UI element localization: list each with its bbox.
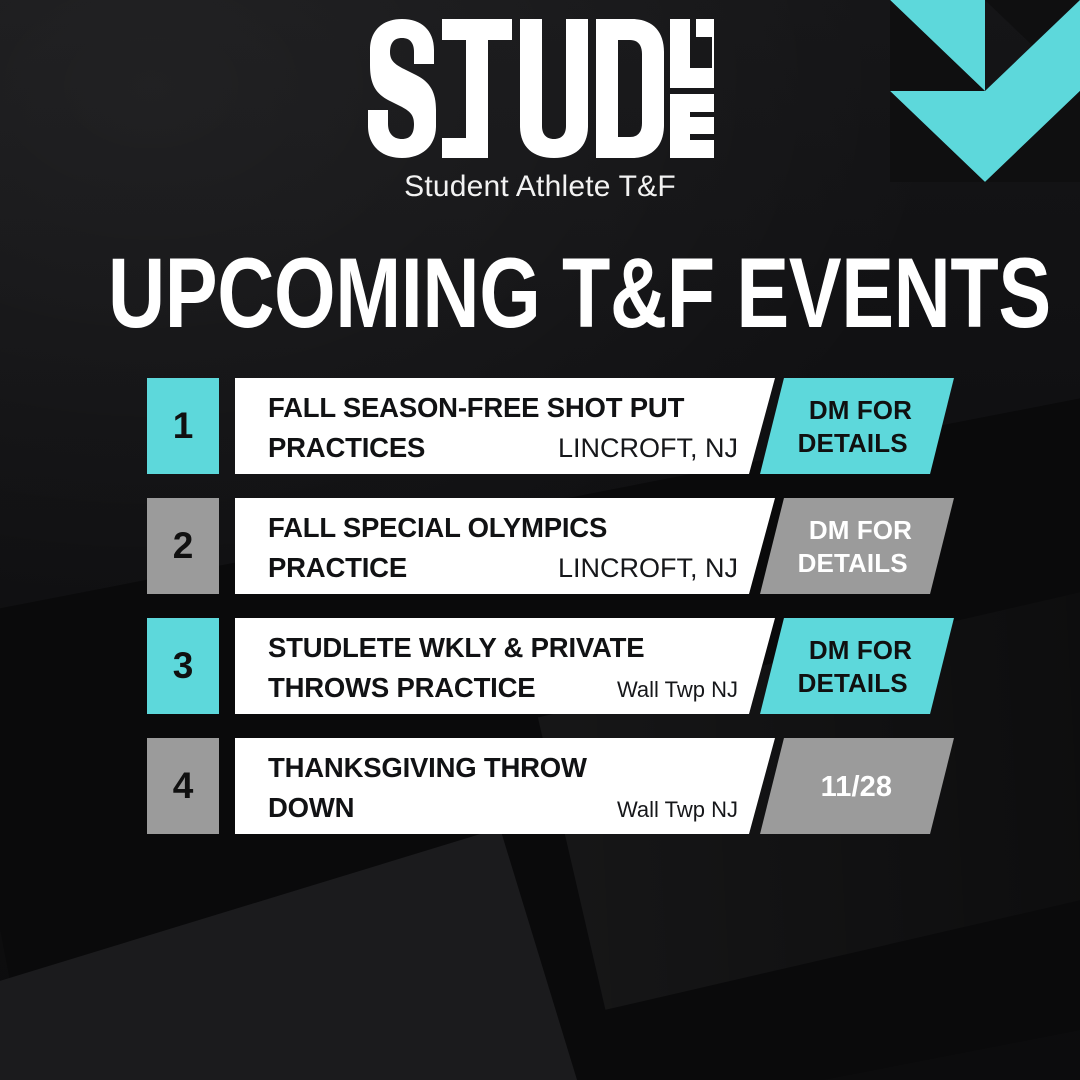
event-cta-badge[interactable]: DM FORDETAILS bbox=[760, 618, 954, 714]
event-title-line1: FALL SEASON-FREE SHOT PUT bbox=[268, 388, 775, 428]
event-number-badge: 4 bbox=[147, 738, 219, 834]
event-cta-line2: DETAILS bbox=[798, 427, 908, 460]
event-row[interactable]: 4THANKSGIVING THROWDOWNWall Twp NJ11/28 bbox=[147, 738, 947, 834]
event-title-line2: THROWS PRACTICE bbox=[268, 668, 535, 708]
brand-tagline: Student Athlete T&F bbox=[404, 170, 676, 204]
event-title-line2: PRACTICES bbox=[268, 428, 425, 468]
event-card: THANKSGIVING THROWDOWNWall Twp NJ bbox=[235, 738, 775, 834]
background-wedge-light bbox=[0, 828, 623, 1080]
event-cta-line1: DM FOR bbox=[809, 394, 912, 427]
brand-logo: Student Athlete T&F bbox=[0, 0, 1080, 204]
event-card: STUDLETE WKLY & PRIVATETHROWS PRACTICEWa… bbox=[235, 618, 775, 714]
event-card-second-line: PRACTICESLINCROFT, NJ bbox=[268, 428, 738, 468]
event-title-line1: STUDLETE WKLY & PRIVATE bbox=[268, 628, 775, 668]
event-row[interactable]: 3STUDLETE WKLY & PRIVATETHROWS PRACTICEW… bbox=[147, 618, 947, 714]
event-row[interactable]: 1FALL SEASON-FREE SHOT PUTPRACTICESLINCR… bbox=[147, 378, 947, 474]
event-cta-badge[interactable]: 11/28 bbox=[760, 738, 954, 834]
event-cta-line2: DETAILS bbox=[798, 667, 908, 700]
event-cta-line1: DM FOR bbox=[809, 514, 912, 547]
page-title: UPCOMING T&F EVENTS bbox=[108, 243, 972, 342]
event-number-badge: 3 bbox=[147, 618, 219, 714]
event-cta-line2: DETAILS bbox=[798, 547, 908, 580]
event-location: LINCROFT, NJ bbox=[558, 548, 738, 588]
event-cta-badge[interactable]: DM FORDETAILS bbox=[760, 378, 954, 474]
event-number-badge: 2 bbox=[147, 498, 219, 594]
event-card: FALL SEASON-FREE SHOT PUTPRACTICESLINCRO… bbox=[235, 378, 775, 474]
event-location: Wall Twp NJ bbox=[617, 790, 738, 830]
event-cta-line1: DM FOR bbox=[809, 634, 912, 667]
event-number-badge: 1 bbox=[147, 378, 219, 474]
event-location: LINCROFT, NJ bbox=[558, 428, 738, 468]
event-card-second-line: PRACTICELINCROFT, NJ bbox=[268, 548, 738, 588]
event-card-second-line: DOWNWall Twp NJ bbox=[268, 788, 738, 830]
event-card: FALL SPECIAL OLYMPICSPRACTICELINCROFT, N… bbox=[235, 498, 775, 594]
event-title-line1: FALL SPECIAL OLYMPICS bbox=[268, 508, 775, 548]
poster-canvas: Student Athlete T&F UPCOMING T&F EVENTS … bbox=[0, 0, 1080, 1080]
event-title-line1: THANKSGIVING THROW bbox=[268, 748, 775, 788]
event-title-line2: PRACTICE bbox=[268, 548, 407, 588]
event-list: 1FALL SEASON-FREE SHOT PUTPRACTICESLINCR… bbox=[147, 378, 947, 858]
event-location: Wall Twp NJ bbox=[617, 670, 738, 710]
event-cta-line1: 11/28 bbox=[821, 771, 892, 804]
event-cta-badge[interactable]: DM FORDETAILS bbox=[760, 498, 954, 594]
event-title-line2: DOWN bbox=[268, 788, 354, 828]
event-card-second-line: THROWS PRACTICEWall Twp NJ bbox=[268, 668, 738, 710]
studlete-wordmark-icon bbox=[366, 16, 714, 162]
event-row[interactable]: 2FALL SPECIAL OLYMPICSPRACTICELINCROFT, … bbox=[147, 498, 947, 594]
